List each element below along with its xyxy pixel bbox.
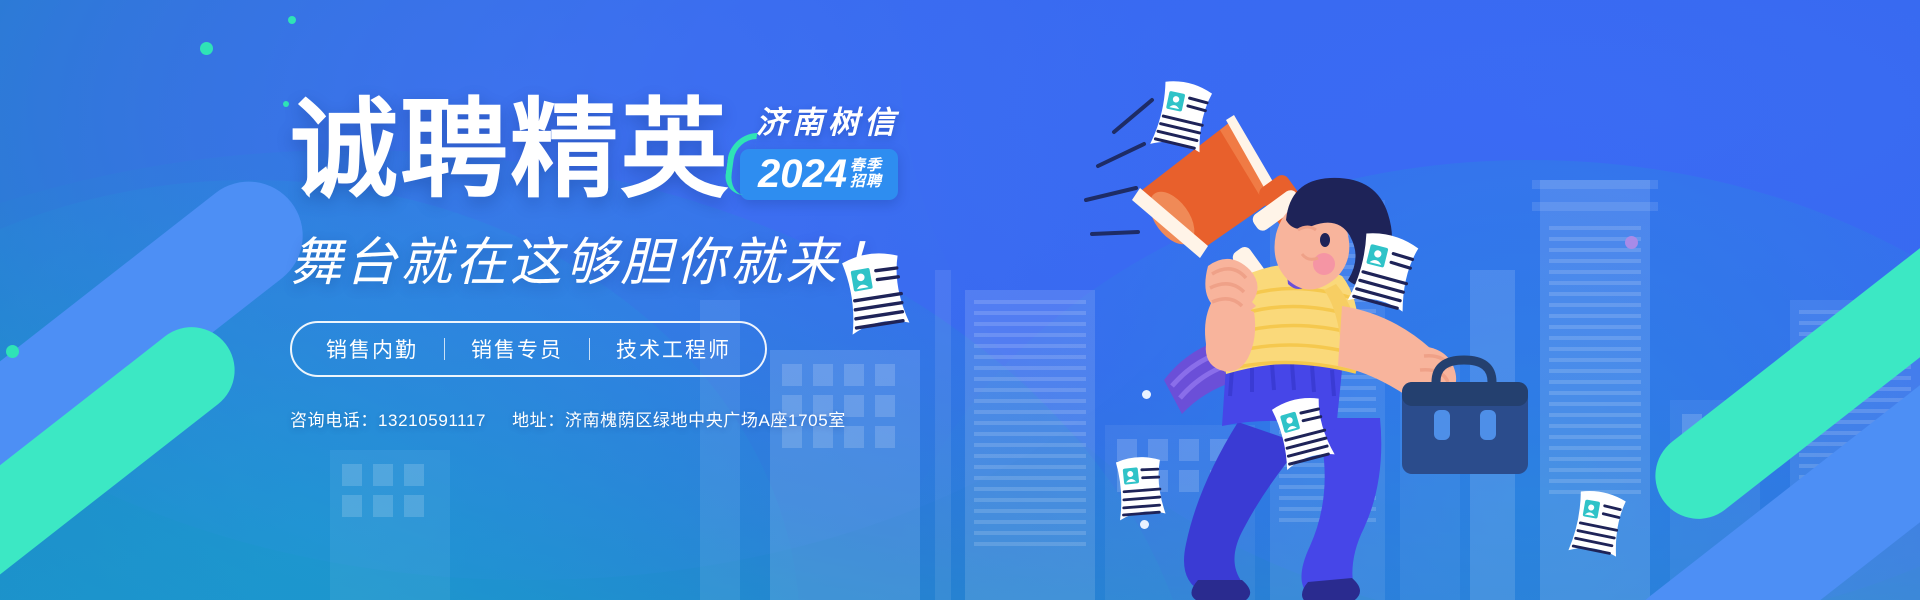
building	[770, 350, 920, 600]
decor-dot-teal	[200, 42, 213, 55]
resume-paper	[1108, 452, 1173, 529]
badge-season: 春季 招聘	[850, 158, 882, 190]
page-title: 诚聘精英	[290, 96, 730, 204]
decor-dot-teal	[288, 16, 296, 24]
resume-paper	[831, 244, 921, 345]
recruitment-badge: 济南树信 2024 春季 招聘	[740, 97, 900, 204]
address-label: 地址：	[512, 411, 565, 430]
roles-pill: 销售内勤 销售专员 技术工程师	[290, 321, 767, 377]
resume-paper	[1562, 485, 1634, 567]
megaphone-sound-lines	[1086, 100, 1152, 234]
subtitle: 舞台就在这够胆你就来！	[290, 220, 1050, 295]
building	[330, 450, 450, 600]
banner-copy: 诚聘精英 济南树信 2024 春季 招聘 舞台就在这够胆你就来！ 销售内勤 销售…	[290, 96, 1050, 377]
briefcase-clasp	[1434, 410, 1450, 440]
decor-dot-teal	[283, 101, 289, 107]
badge-season-line2: 招聘	[850, 174, 882, 190]
decor-dot-teal	[6, 345, 19, 358]
address-block: 地址：济南槐荫区绿地中央广场A座1705室	[512, 406, 846, 431]
phone-block: 咨询电话：13210591117	[290, 406, 486, 431]
shoe-back	[1191, 580, 1250, 600]
badge-plate: 2024 春季 招聘	[740, 149, 898, 200]
phone-number: 13210591117	[378, 411, 486, 430]
company-name: 济南树信	[740, 97, 900, 142]
recruitment-banner: 诚聘精英 济南树信 2024 春季 招聘 舞台就在这够胆你就来！ 销售内勤 销售…	[0, 0, 1920, 600]
role-item-3[interactable]: 技术工程师	[616, 334, 731, 364]
role-divider	[589, 338, 590, 360]
headline-row: 诚聘精英 济南树信 2024 春季 招聘	[290, 96, 1050, 204]
role-item-2[interactable]: 销售专员	[471, 334, 563, 364]
badge-season-line1: 春季	[850, 158, 882, 174]
contact-info: 咨询电话：13210591117 地址：济南槐荫区绿地中央广场A座1705室	[290, 406, 846, 431]
address-value: 济南槐荫区绿地中央广场A座1705室	[565, 411, 846, 430]
phone-label: 咨询电话：	[290, 411, 378, 430]
briefcase-clasp	[1480, 410, 1496, 440]
decor-dot-purple	[1625, 236, 1638, 249]
role-item-1[interactable]: 销售内勤	[326, 334, 418, 364]
cheek	[1313, 253, 1335, 275]
eye	[1320, 233, 1330, 247]
badge-year: 2024	[758, 154, 847, 194]
role-divider	[444, 338, 445, 360]
